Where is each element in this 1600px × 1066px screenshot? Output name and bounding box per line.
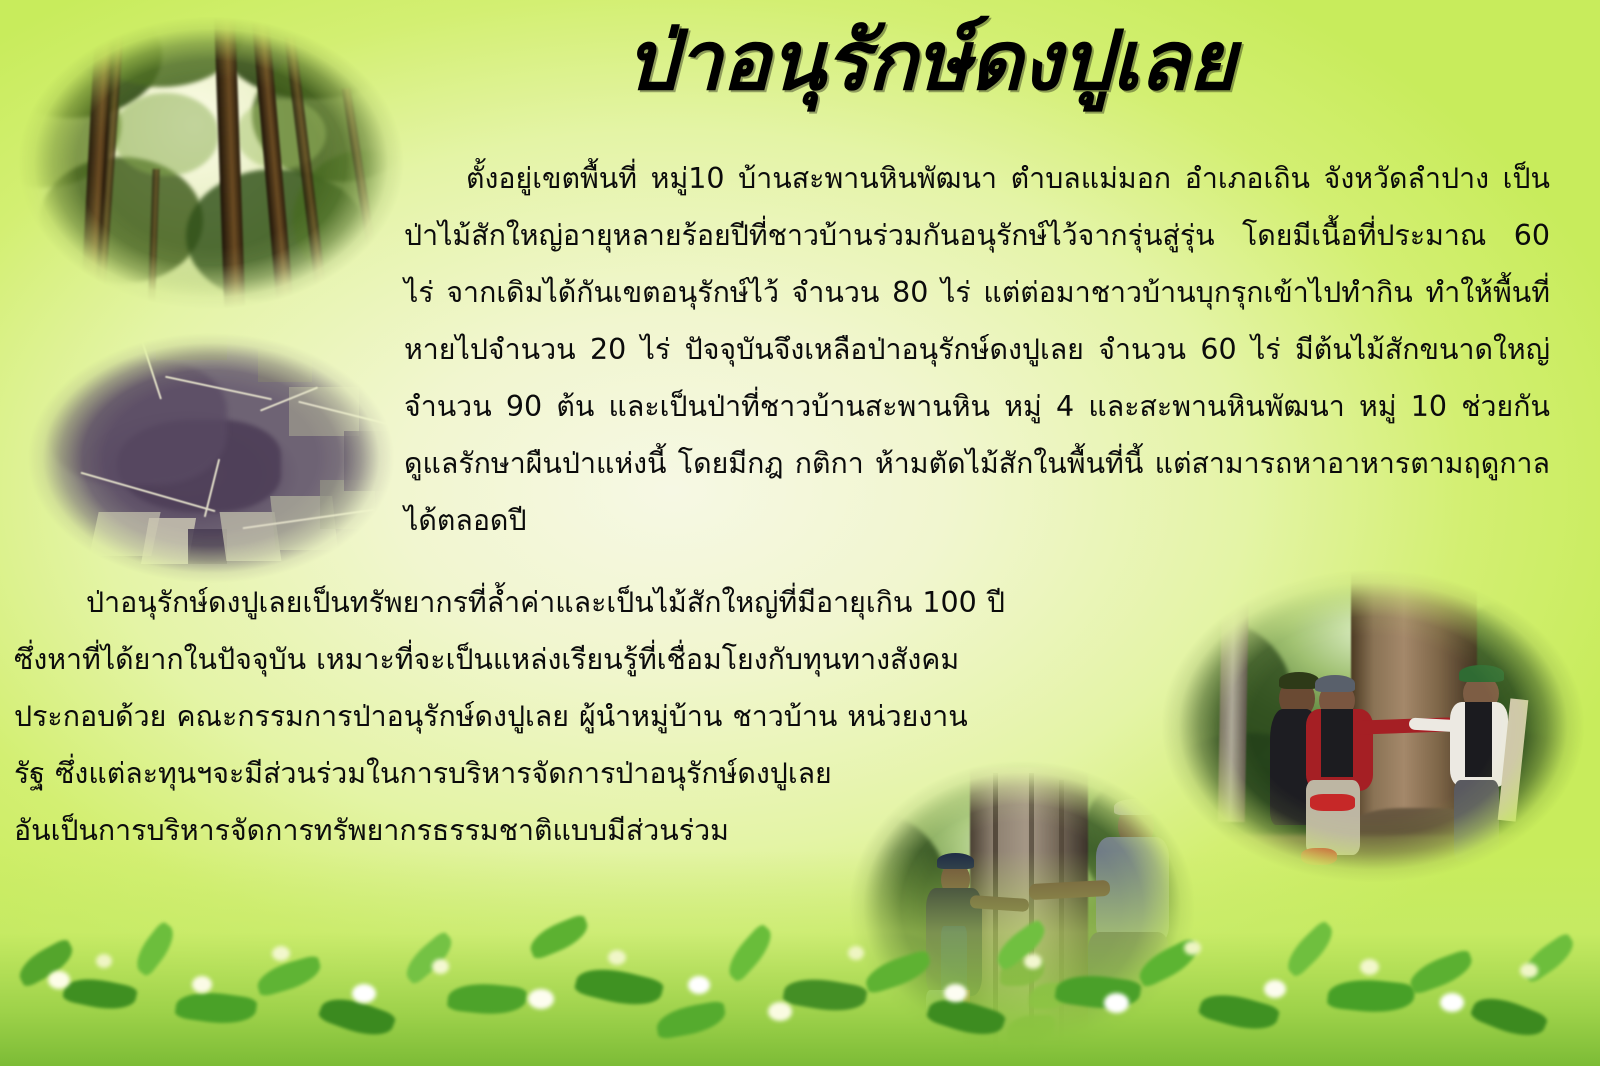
figure-forest-canopy: [6, 4, 416, 322]
figure-aerial-map: [16, 322, 406, 594]
outro-line: ซึ่งหาที่ได้ยากในปัจจุบัน เหมาะที่จะเป็น…: [14, 631, 1119, 688]
figure-measure-tree: [838, 748, 1206, 1066]
outro-line: ประกอบด้วย คณะกรรมการป่าอนุรักษ์ดงปูเลย …: [14, 688, 1119, 745]
poster-title: ป่าอนุรักษ์ดงปูเลย: [560, 18, 1300, 107]
poster-canvas: ป่าอนุรักษ์ดงปูเลย ตั้งอยู่เขตพื้นที่ หม…: [0, 0, 1600, 1066]
figure-students-tree: [1148, 556, 1598, 896]
intro-paragraph: ตั้งอยู่เขตพื้นที่ หมู่10 บ้านสะพานหินพั…: [404, 150, 1550, 549]
outro-line: ป่าอนุรักษ์ดงปูเลยเป็นทรัพยากรที่ล้ำค่าแ…: [14, 574, 1119, 631]
